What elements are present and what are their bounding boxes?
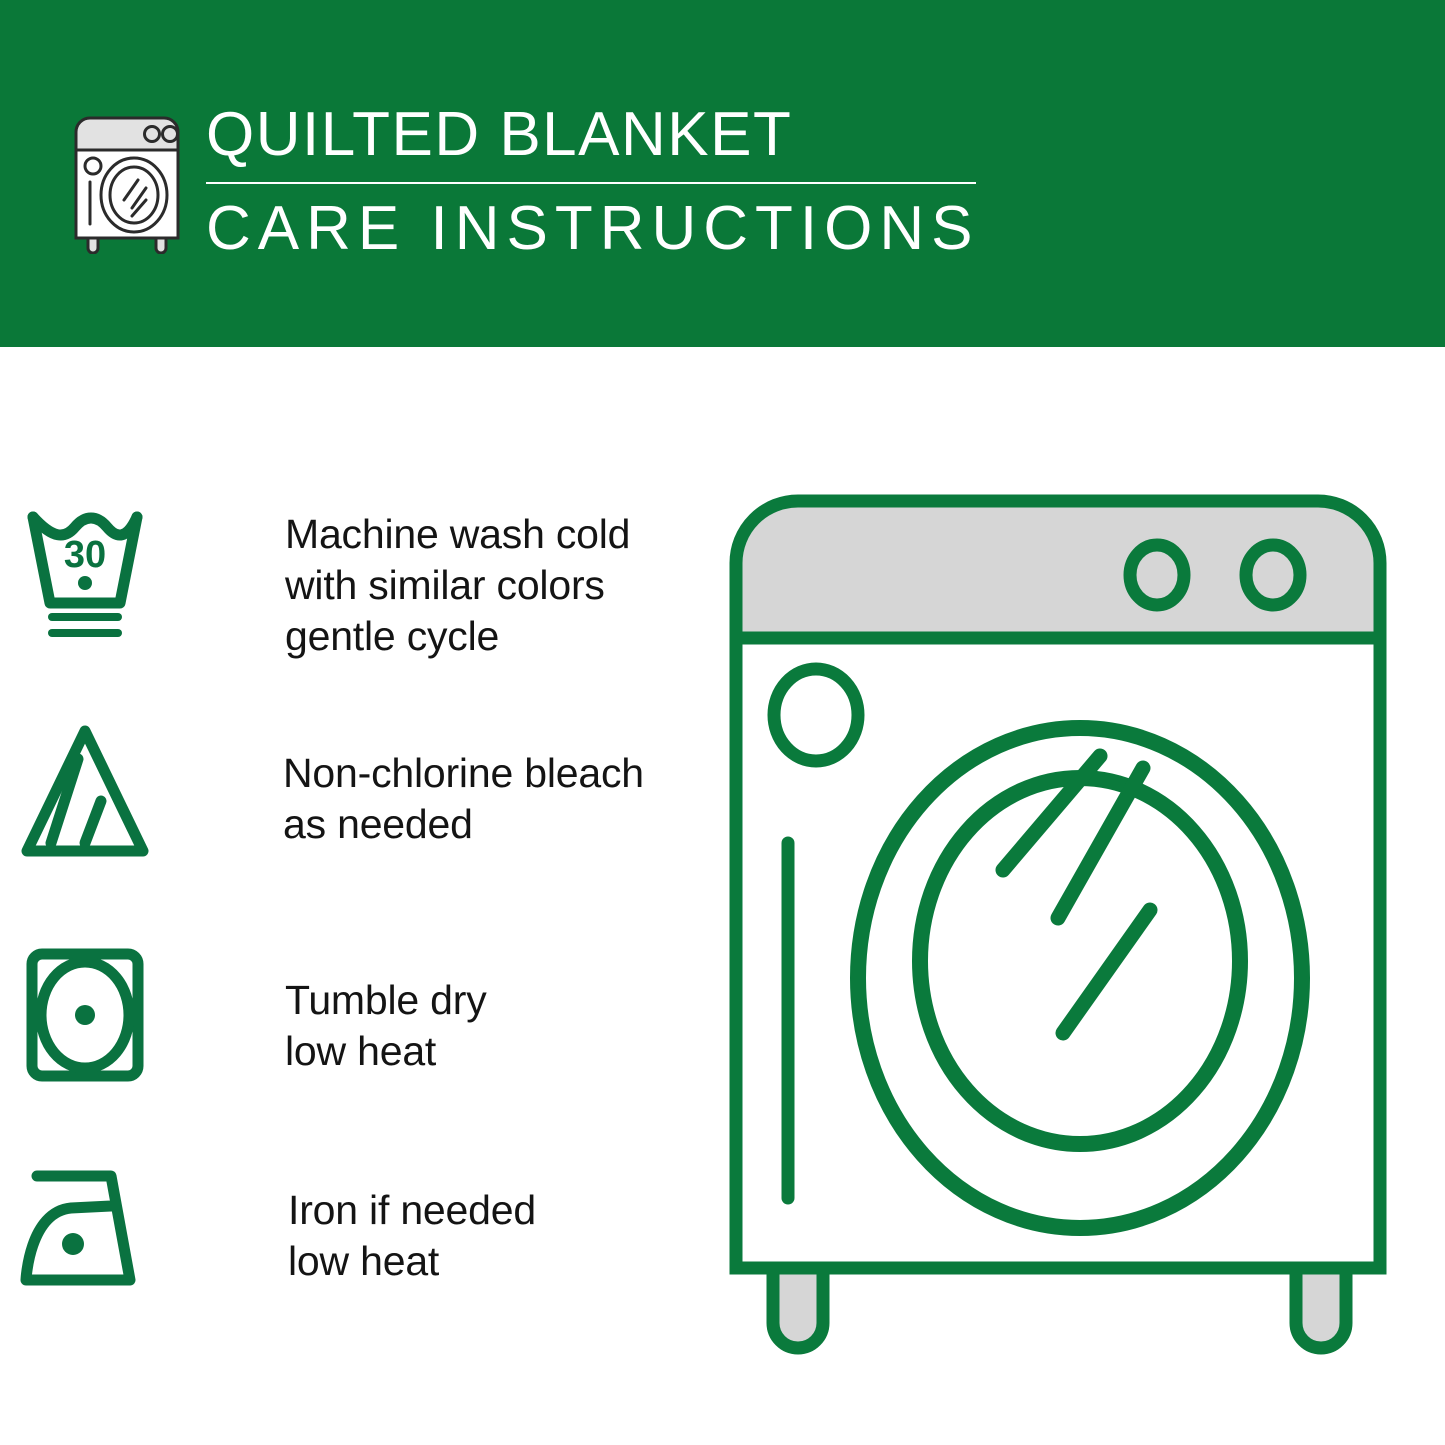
care-row-bleach: Non-chlorine bleach as needed: [0, 715, 644, 865]
header-banner: QUILTED BLANKET CARE INSTRUCTIONS: [0, 0, 1445, 347]
care-label-bleach: Non-chlorine bleach as needed: [170, 715, 644, 850]
page-subtitle: CARE INSTRUCTIONS: [206, 194, 1006, 264]
svg-text:30: 30: [64, 534, 106, 576]
care-instructions-infographic: QUILTED BLANKET CARE INSTRUCTIONS 30 Mac…: [0, 0, 1445, 1445]
care-row-machine-wash: 30 Machine wash cold with similar colors…: [0, 495, 630, 662]
leg-right: [1296, 1268, 1346, 1348]
care-label-iron: Iron if needed low heat: [170, 1150, 536, 1287]
front-load-washing-machine-illustration: [718, 478, 1398, 1358]
title-divider: [206, 182, 976, 184]
iron-low-heat-icon: [0, 1150, 170, 1300]
leg-left: [773, 1268, 823, 1348]
washing-machine-icon: [66, 104, 188, 254]
non-chlorine-bleach-triangle-icon: [0, 715, 170, 865]
control-panel: [736, 501, 1380, 638]
header-text-block: QUILTED BLANKET CARE INSTRUCTIONS: [206, 100, 1006, 264]
care-label-machine-wash: Machine wash cold with similar colors ge…: [170, 495, 630, 662]
tumble-dry-low-heat-icon: [0, 940, 170, 1090]
wash-tub-30-gentle-icon: 30: [0, 495, 170, 645]
care-label-tumble-dry: Tumble dry low heat: [170, 940, 487, 1077]
care-row-tumble-dry: Tumble dry low heat: [0, 940, 487, 1090]
care-row-iron: Iron if needed low heat: [0, 1150, 536, 1300]
page-title: QUILTED BLANKET: [206, 100, 1006, 170]
